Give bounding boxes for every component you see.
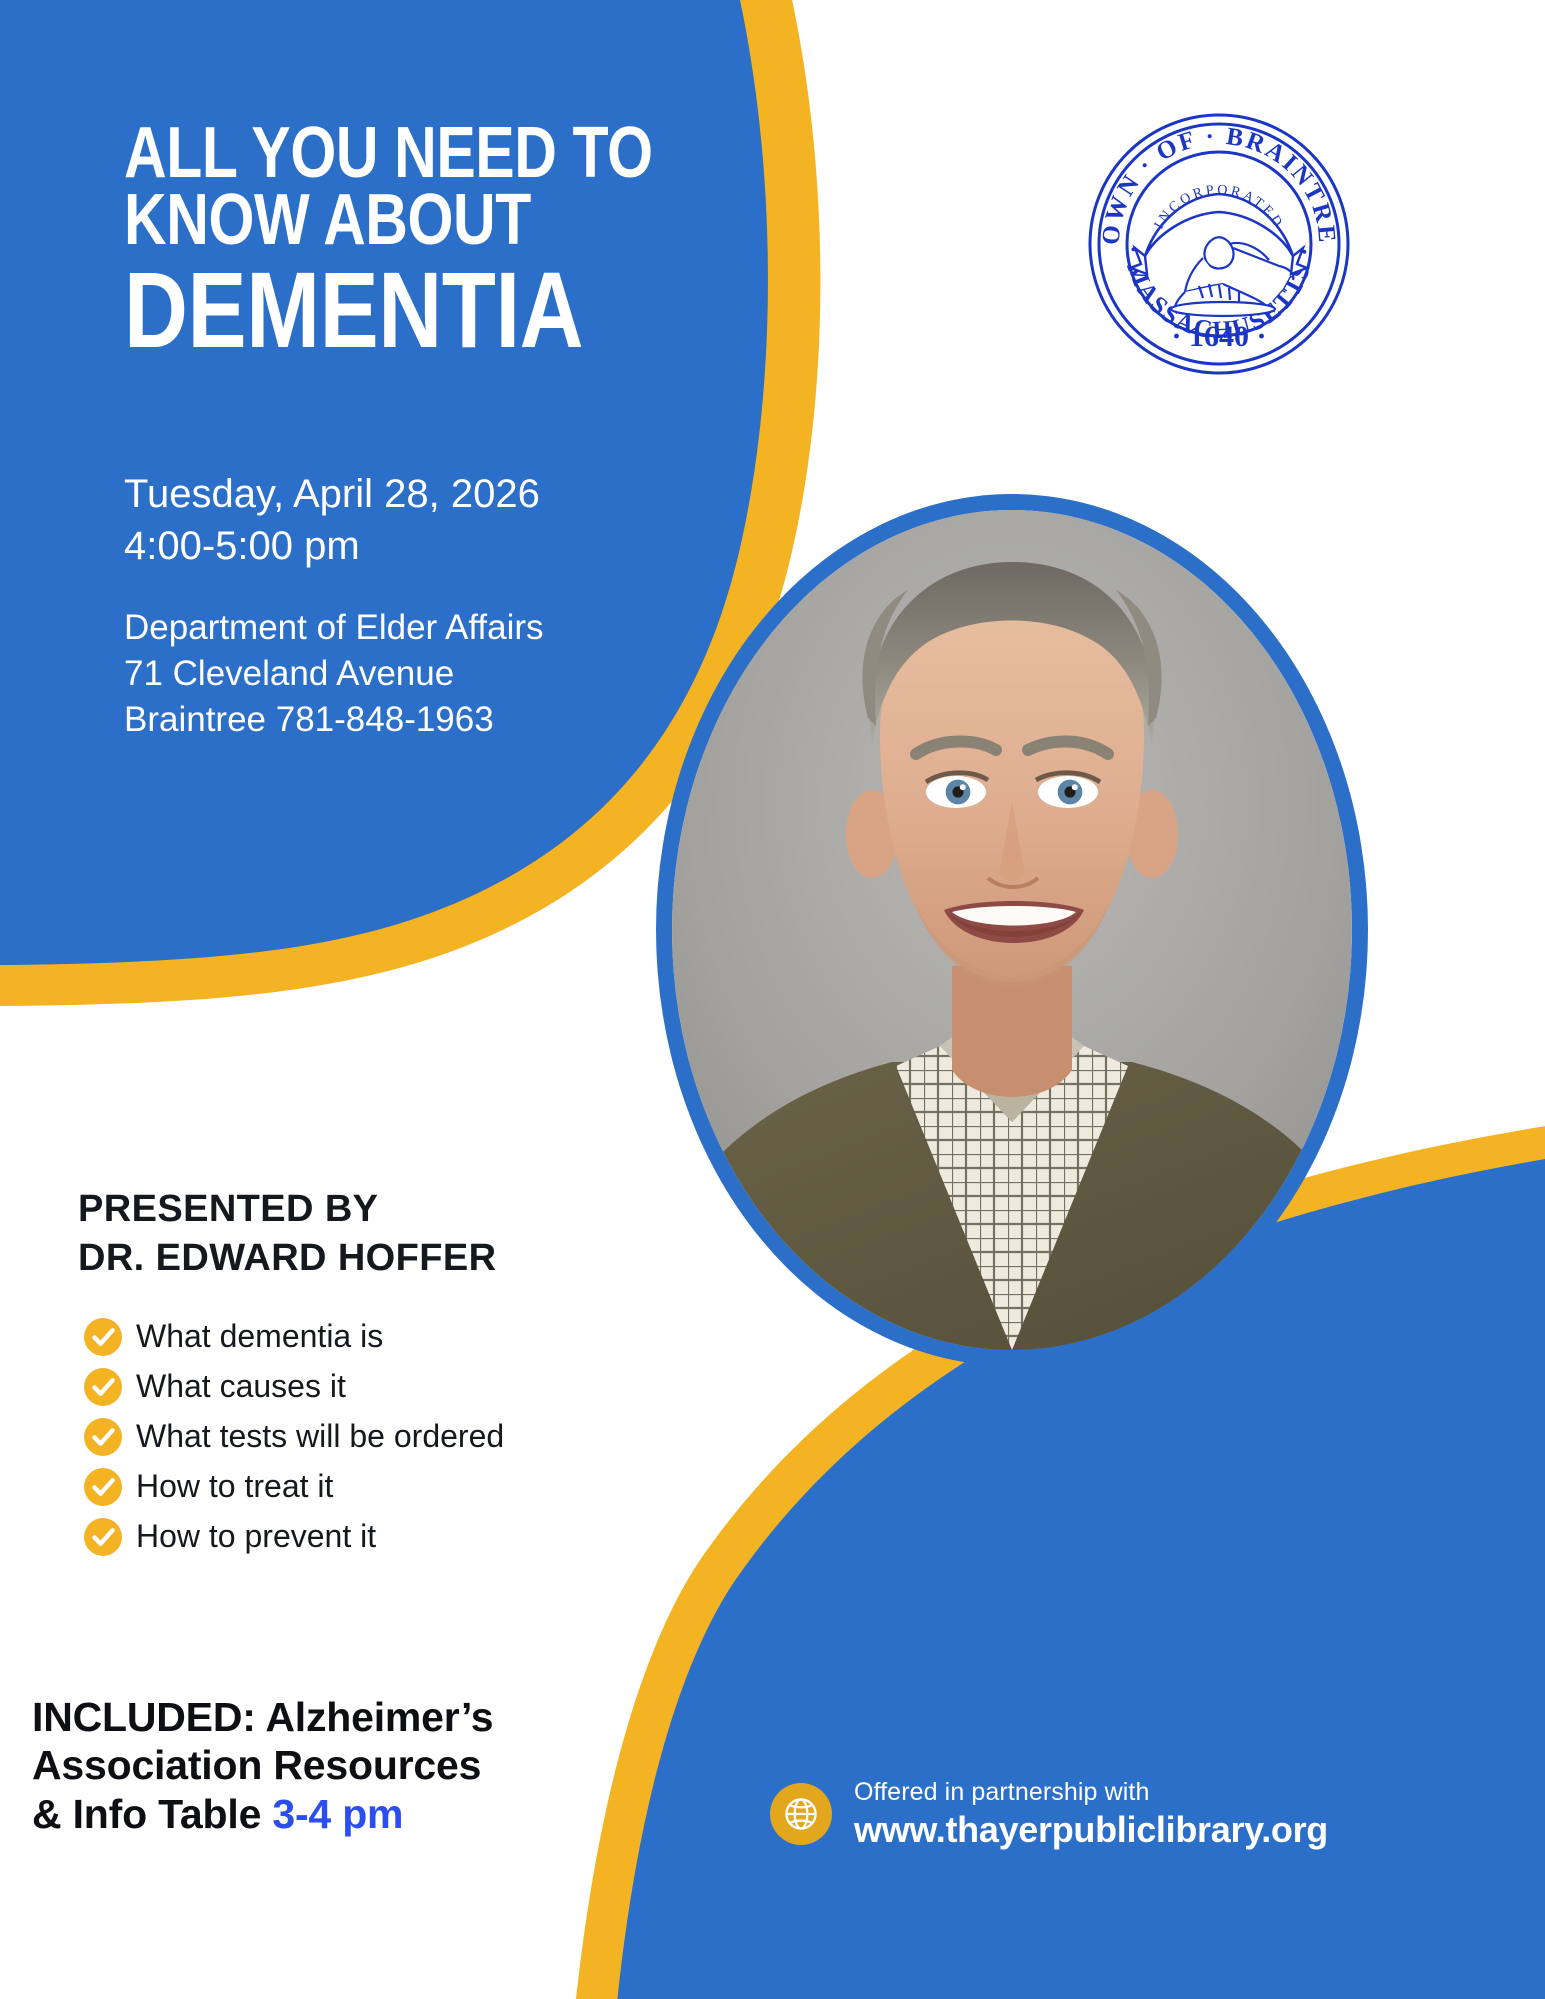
check-circle-icon <box>84 1518 122 1556</box>
list-item: How to treat it <box>84 1468 604 1506</box>
partnership-intro: Offered in partnership with <box>854 1778 1328 1806</box>
town-of-braintree-seal: TOWN · OF · BRAINTREE · MASSACHUSETTS · … <box>1083 108 1355 380</box>
check-circle-icon <box>84 1468 122 1506</box>
globe-icon <box>770 1783 832 1845</box>
included-block: INCLUDED: Alzheimer’s Association Resour… <box>32 1693 552 1838</box>
included-line-3: & Info Table 3-4 pm <box>32 1790 552 1838</box>
venue-city-phone: Braintree 781-848-1963 <box>124 697 764 743</box>
partnership-text: Offered in partnership with www.thayerpu… <box>854 1778 1328 1850</box>
included-line-1: INCLUDED: Alzheimer’s <box>32 1693 552 1741</box>
included-line-2: Association Resources <box>32 1741 552 1789</box>
list-item-label: What tests will be ordered <box>136 1419 504 1454</box>
list-item: How to prevent it <box>84 1518 604 1556</box>
list-item-label: How to prevent it <box>136 1519 376 1554</box>
seal-year-text: · 1640 · <box>1171 320 1266 353</box>
headline-line-1: ALL YOU NEED TO <box>124 120 616 187</box>
event-location: Department of Elder Affairs 71 Cleveland… <box>124 605 764 744</box>
list-item: What causes it <box>84 1368 604 1406</box>
venue-name: Department of Elder Affairs <box>124 605 764 651</box>
check-circle-icon <box>84 1418 122 1456</box>
list-item: What tests will be ordered <box>84 1418 604 1456</box>
check-circle-icon <box>84 1368 122 1406</box>
presenter-name: DR. EDWARD HOFFER <box>78 1234 638 1283</box>
headline-line-3: DEMENTIA <box>124 260 616 360</box>
list-item-label: How to treat it <box>136 1469 333 1504</box>
list-item-label: What dementia is <box>136 1319 383 1354</box>
event-time: 4:00-5:00 pm <box>124 520 764 572</box>
list-item-label: What causes it <box>136 1369 346 1404</box>
topics-checklist: What dementia is What causes it What tes… <box>84 1318 604 1568</box>
library-website-url[interactable]: www.thayerpubliclibrary.org <box>854 1809 1328 1850</box>
check-circle-icon <box>84 1318 122 1356</box>
list-item: What dementia is <box>84 1318 604 1356</box>
seal-outer-top-text: TOWN · OF · BRAINTREE <box>1083 108 1340 246</box>
event-date: Tuesday, April 28, 2026 <box>124 468 764 520</box>
headline-block: ALL YOU NEED TO KNOW ABOUT DEMENTIA <box>124 120 724 360</box>
speaker-portrait-image <box>672 510 1352 1350</box>
event-datetime: Tuesday, April 28, 2026 4:00-5:00 pm <box>124 468 764 572</box>
venue-street: 71 Cleveland Avenue <box>124 651 764 697</box>
presenter-block: PRESENTED BY DR. EDWARD HOFFER <box>78 1185 638 1284</box>
poster-canvas: TOWN · OF · BRAINTREE · MASSACHUSETTS · … <box>0 0 1545 1999</box>
presented-by-label: PRESENTED BY <box>78 1185 638 1234</box>
included-time-highlight: 3-4 pm <box>272 1791 403 1837</box>
partnership-block: Offered in partnership with www.thayerpu… <box>770 1778 1328 1850</box>
headline-line-2: KNOW ABOUT <box>124 187 616 254</box>
included-line-3-plain: & Info Table <box>32 1791 272 1837</box>
speaker-portrait <box>672 510 1352 1350</box>
